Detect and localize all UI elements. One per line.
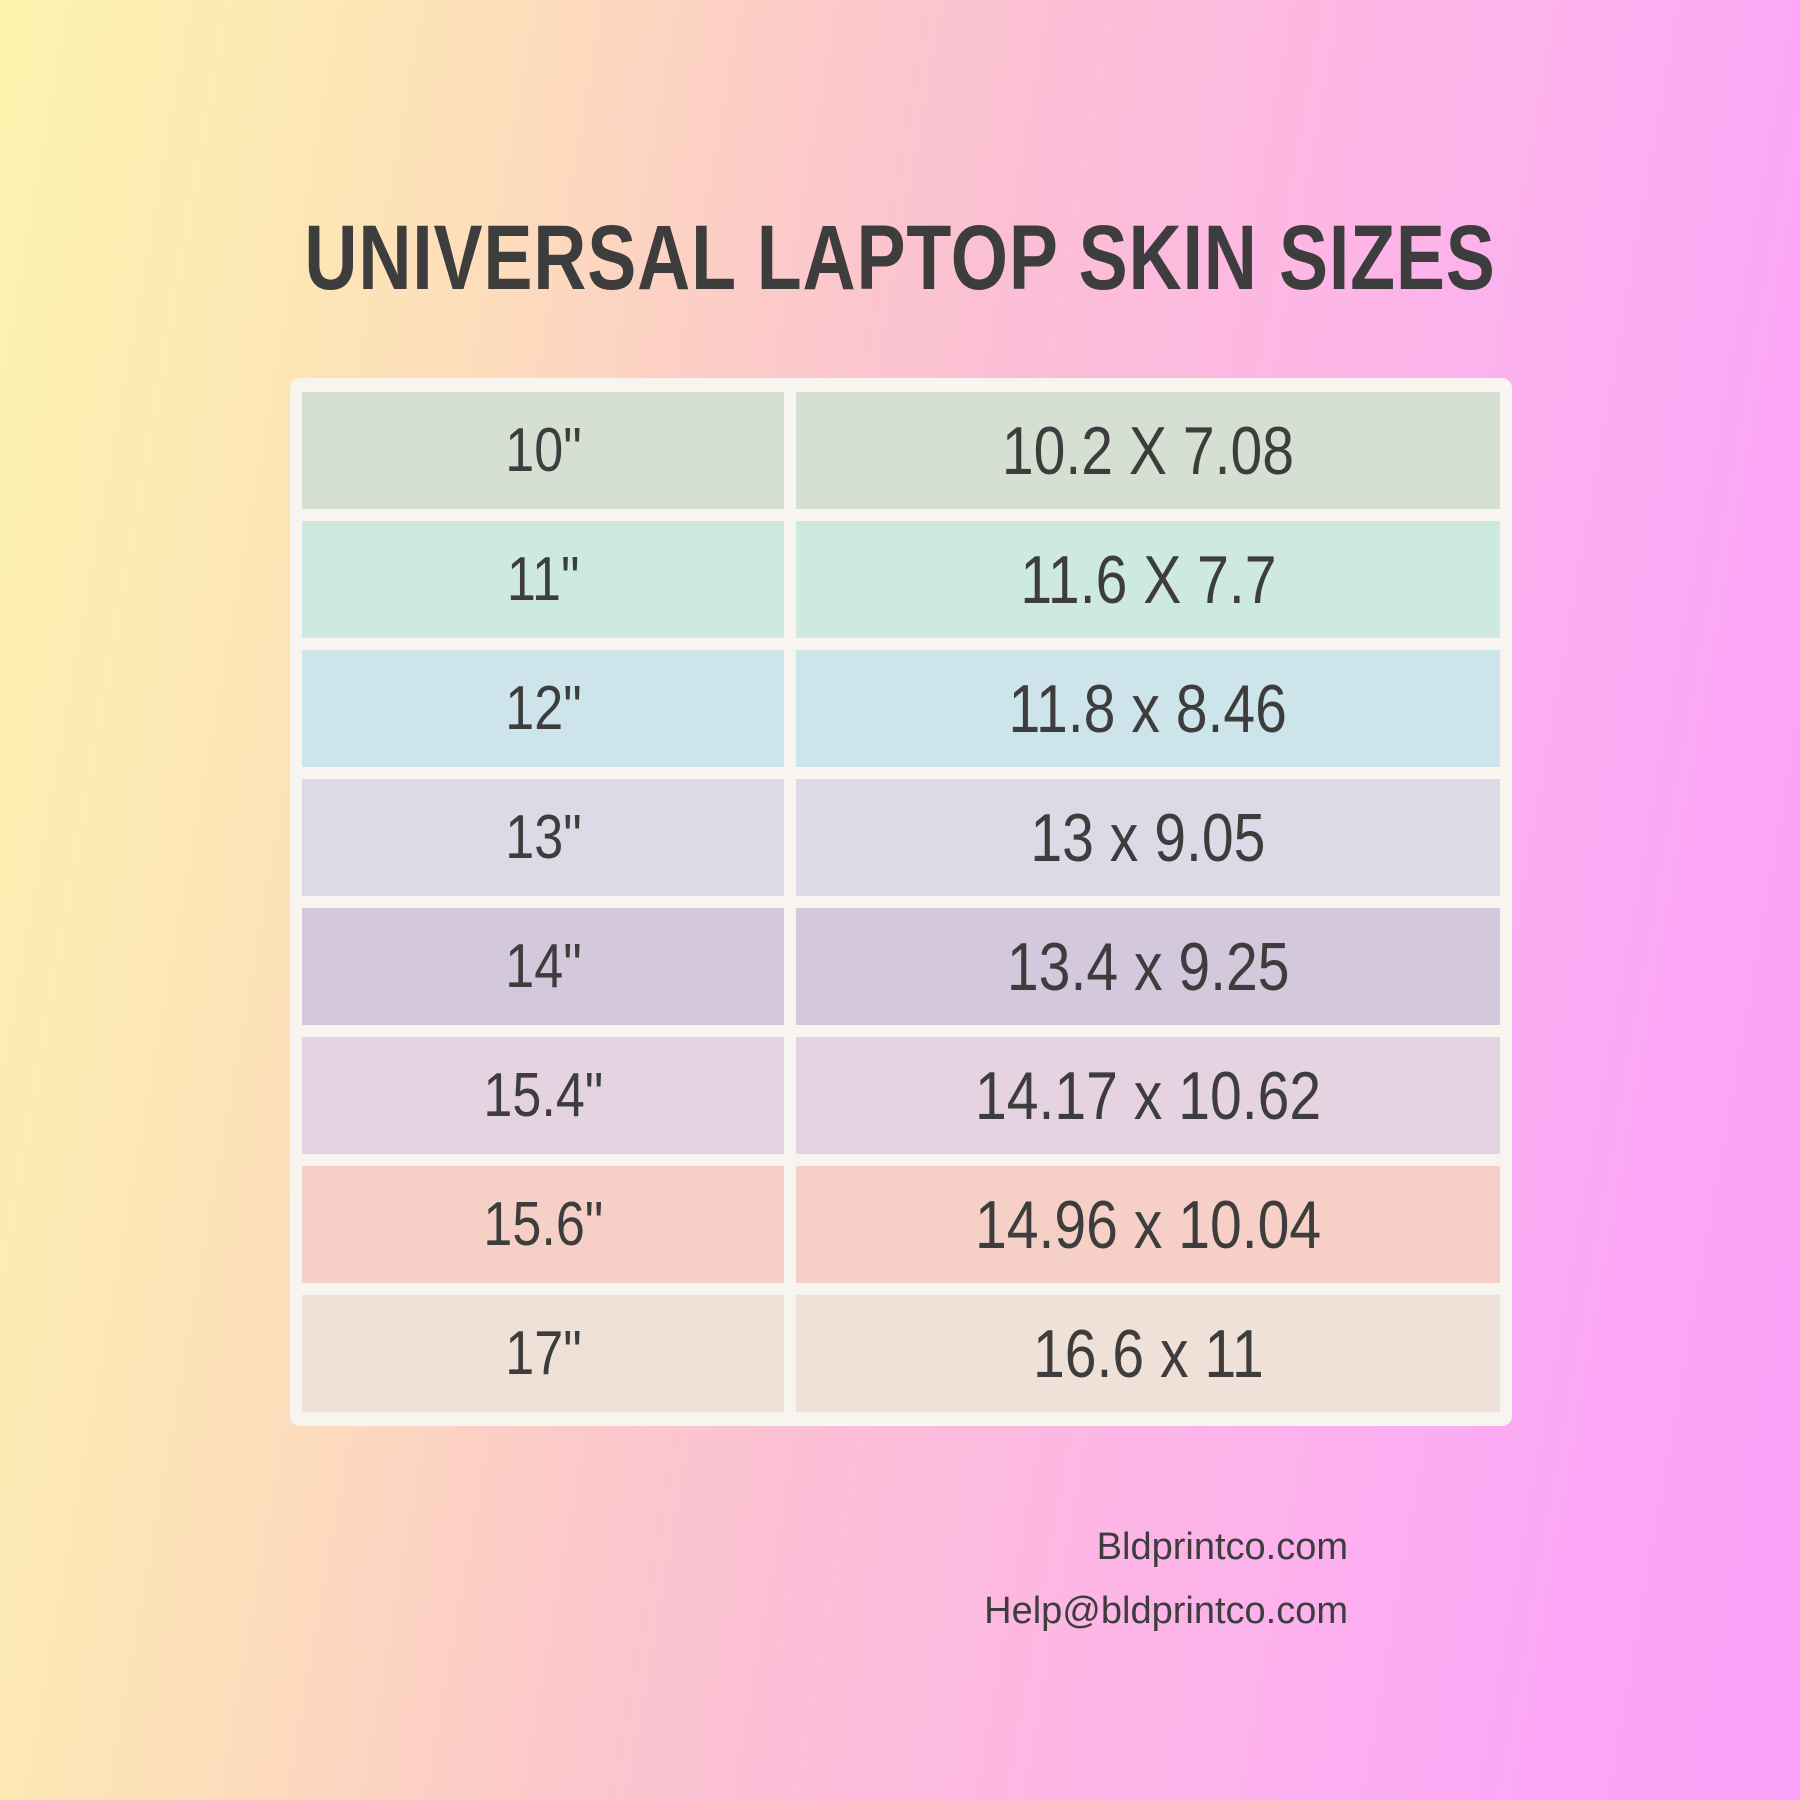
- size-label: 13": [505, 807, 581, 869]
- page-title: UNIVERSAL LAPTOP SKIN SIZES: [180, 212, 1620, 304]
- size-label: 12": [505, 678, 581, 740]
- dimensions-label: 11.6 X 7.7: [1020, 546, 1276, 614]
- dimensions-label: 13.4 x 9.25: [1007, 933, 1290, 1001]
- table-cell-dimensions: 14.96 x 10.04: [796, 1166, 1500, 1283]
- footer-contact: Bldprintco.com Help@bldprintco.com: [984, 1528, 1348, 1630]
- table-cell-size: 13": [302, 779, 784, 896]
- dimensions-label: 14.17 x 10.62: [975, 1062, 1321, 1130]
- table-cell-dimensions: 13.4 x 9.25: [796, 908, 1500, 1025]
- table-cell-dimensions: 10.2 X 7.08: [796, 392, 1500, 509]
- size-label: 15.6": [483, 1194, 603, 1256]
- poster-canvas: UNIVERSAL LAPTOP SKIN SIZES 10" 10.2 X 7…: [0, 0, 1800, 1800]
- footer-website: Bldprintco.com: [984, 1528, 1348, 1566]
- table-row: 17" 16.6 x 11: [302, 1295, 1500, 1412]
- table-row: 13" 13 x 9.05: [302, 779, 1500, 896]
- size-label: 11": [507, 549, 580, 611]
- table-cell-size: 14": [302, 908, 784, 1025]
- table-cell-size: 11": [302, 521, 784, 638]
- dimensions-label: 14.96 x 10.04: [975, 1191, 1321, 1259]
- table-cell-dimensions: 11.6 X 7.7: [796, 521, 1500, 638]
- table-cell-size: 17": [302, 1295, 784, 1412]
- table-cell-size: 15.6": [302, 1166, 784, 1283]
- table-row: 14" 13.4 x 9.25: [302, 908, 1500, 1025]
- dimensions-label: 16.6 x 11: [1033, 1320, 1264, 1388]
- table-cell-dimensions: 16.6 x 11: [796, 1295, 1500, 1412]
- table-cell-dimensions: 13 x 9.05: [796, 779, 1500, 896]
- size-chart-table: 10" 10.2 X 7.08 11" 11.6 X 7.7 12" 11.8 …: [290, 378, 1512, 1426]
- size-label: 10": [505, 420, 581, 482]
- table-cell-size: 12": [302, 650, 784, 767]
- size-label: 15.4": [483, 1065, 603, 1127]
- table-cell-dimensions: 11.8 x 8.46: [796, 650, 1500, 767]
- table-row: 11" 11.6 X 7.7: [302, 521, 1500, 638]
- dimensions-label: 13 x 9.05: [1030, 804, 1265, 872]
- size-label: 17": [505, 1323, 581, 1385]
- table-row: 15.6" 14.96 x 10.04: [302, 1166, 1500, 1283]
- dimensions-label: 11.8 x 8.46: [1009, 675, 1287, 743]
- dimensions-label: 10.2 X 7.08: [1002, 417, 1294, 485]
- table-cell-size: 10": [302, 392, 784, 509]
- table-cell-size: 15.4": [302, 1037, 784, 1154]
- table-row: 15.4" 14.17 x 10.62: [302, 1037, 1500, 1154]
- table-cell-dimensions: 14.17 x 10.62: [796, 1037, 1500, 1154]
- size-label: 14": [505, 936, 581, 998]
- table-row: 12" 11.8 x 8.46: [302, 650, 1500, 767]
- table-row: 10" 10.2 X 7.08: [302, 392, 1500, 509]
- footer-email: Help@bldprintco.com: [984, 1592, 1348, 1630]
